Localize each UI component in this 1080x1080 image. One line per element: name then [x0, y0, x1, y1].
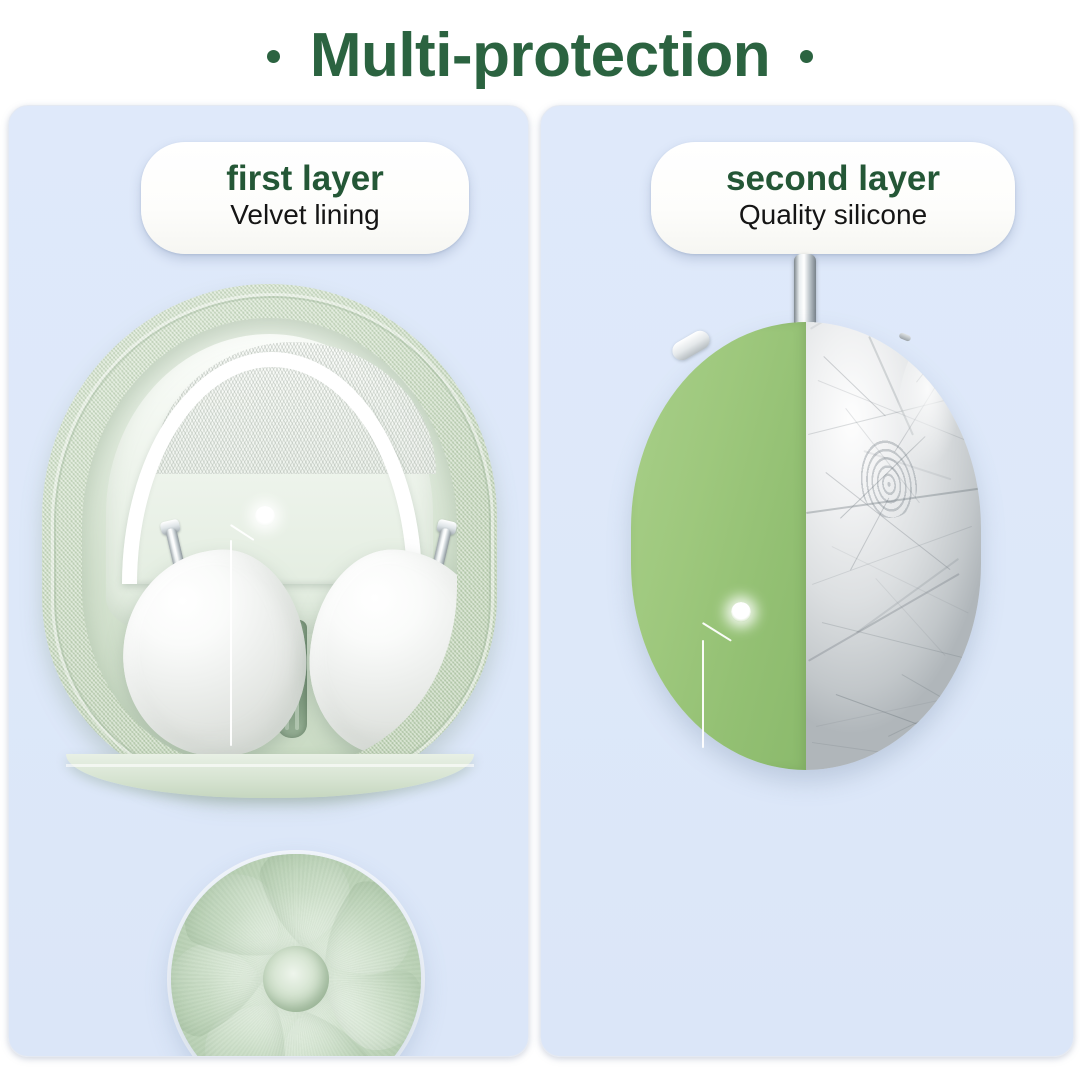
panel-second-layer: second layer Quality silicone — [540, 105, 1074, 1057]
case-velvet-cavity — [82, 318, 457, 766]
label-title: first layer — [226, 161, 384, 198]
hero-image-split-earcup — [631, 286, 981, 786]
case-bottom-lip — [66, 754, 474, 798]
callout-dot-velvet — [255, 506, 275, 526]
label-card-first-layer: first layer Velvet lining — [141, 142, 469, 254]
detail-circle-velvet — [171, 854, 421, 1057]
label-subtitle: Velvet lining — [230, 199, 379, 231]
velvet-swirl-texture — [171, 854, 421, 1057]
callout-leader-vertical — [702, 640, 704, 748]
infographic-stage: Multi-protection first layer Velvet lini… — [0, 0, 1080, 1080]
scratch-marks — [806, 322, 981, 770]
label-card-second-layer: second layer Quality silicone — [651, 142, 1015, 254]
callout-dot-silicone — [731, 602, 751, 622]
earcup-half-bare-metal — [806, 322, 981, 770]
earcup-half-silicone-cover — [631, 322, 806, 770]
hero-image-open-case — [42, 284, 497, 824]
bullet-dot-right-icon — [800, 50, 813, 63]
earcup-split-view — [631, 322, 981, 770]
label-title: second layer — [726, 161, 940, 198]
page-title-text: Multi-protection — [310, 25, 770, 87]
label-subtitle: Quality silicone — [739, 199, 927, 231]
bullet-dot-left-icon — [267, 50, 280, 63]
panel-first-layer: first layer Velvet lining — [8, 105, 529, 1057]
page-title: Multi-protection — [0, 18, 1080, 94]
callout-leader-vertical — [230, 540, 232, 746]
